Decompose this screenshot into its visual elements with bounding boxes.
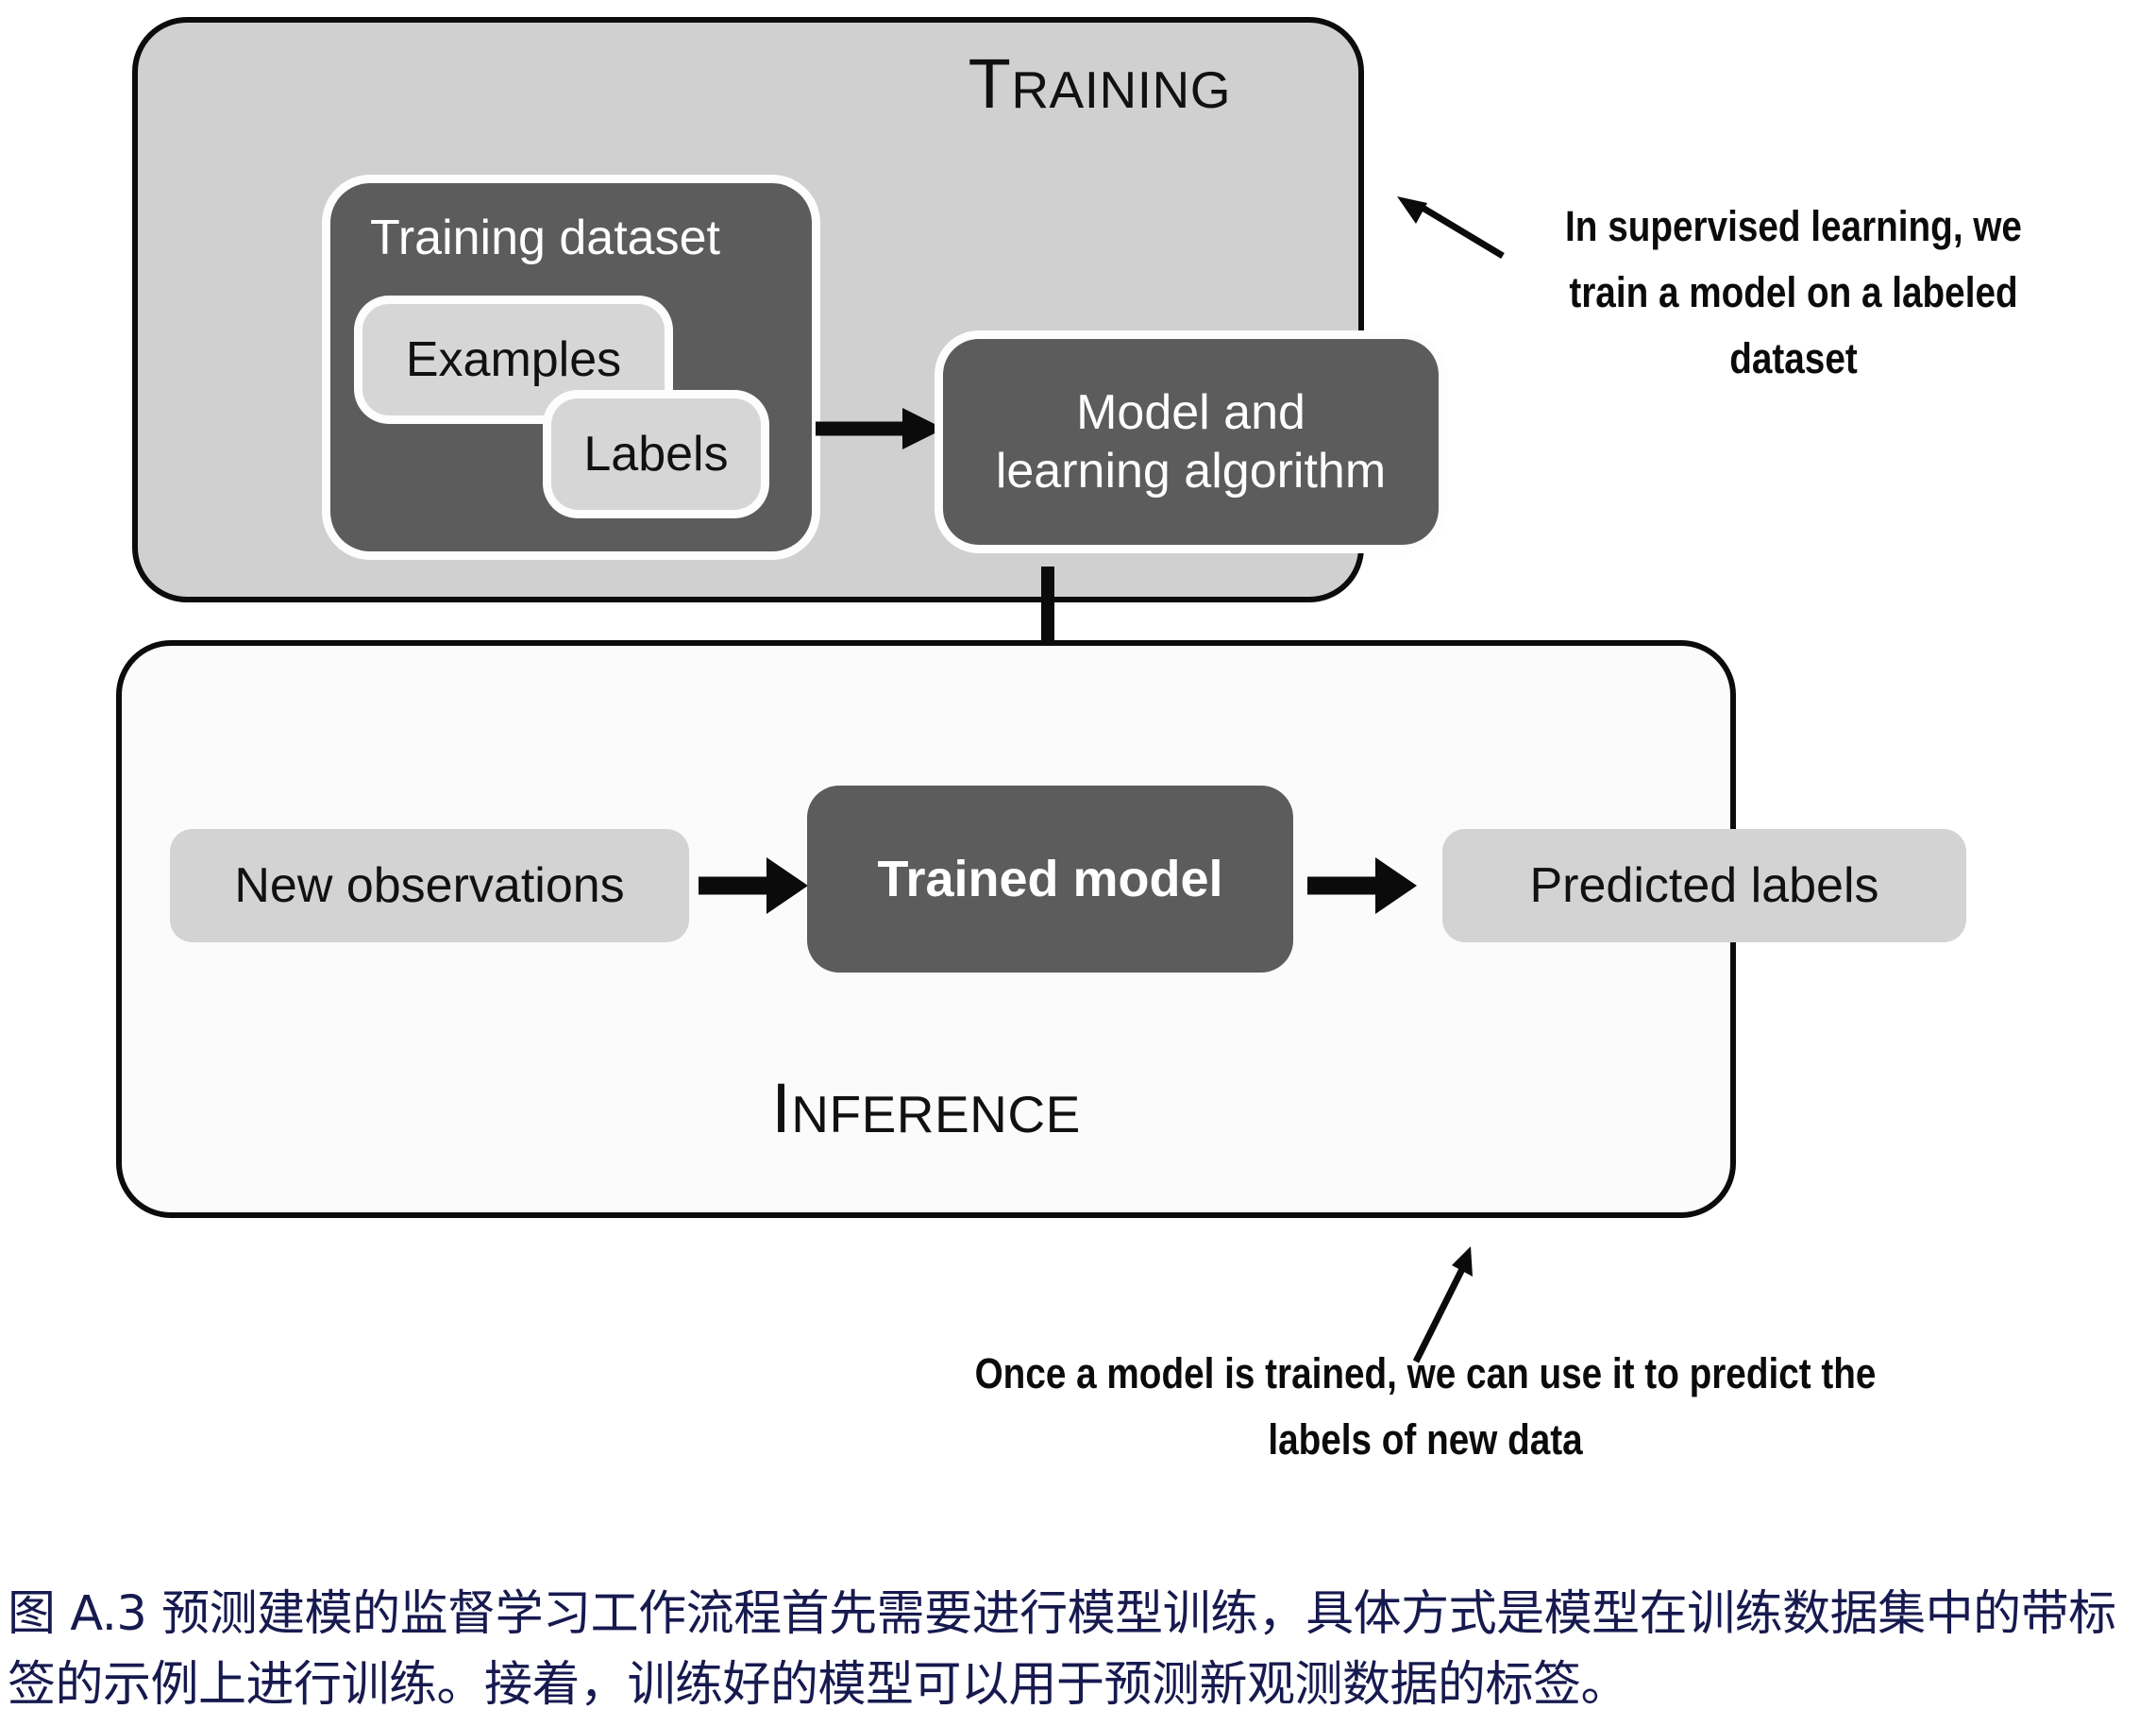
arrow-trained-model-to-predicted-labels-icon: [1307, 850, 1421, 922]
figure-supervised-learning-workflow: TRAINING Training dataset Examples Label…: [0, 0, 2156, 1726]
figure-caption: 图 A.3 预测建模的监督学习工作流程首先需要进行模型训练，具体方式是模型在训练…: [8, 1579, 2150, 1721]
training-section-title: TRAINING: [969, 51, 1231, 117]
predicted-labels-box: Predicted labels: [1442, 829, 1966, 942]
training-dataset-box: Training dataset Examples Labels: [330, 183, 812, 551]
training-dataset-label: Training dataset: [370, 210, 720, 266]
labels-chip: Labels: [551, 398, 761, 510]
trained-model-box: Trained model: [807, 786, 1293, 973]
trained-model-label: Trained model: [877, 850, 1222, 908]
training-title-initial: T: [969, 44, 1012, 123]
labels-label: Labels: [583, 426, 728, 482]
new-observations-label: New observations: [234, 857, 624, 914]
examples-label: Examples: [406, 331, 621, 388]
inference-title-initial: I: [771, 1069, 791, 1147]
training-annotation-leader-arrow-icon: [1397, 194, 1510, 279]
training-section-panel: TRAINING Training dataset Examples Label…: [132, 17, 1364, 602]
predicted-labels-label: Predicted labels: [1530, 857, 1879, 914]
inference-section-title: INFERENCE: [122, 1075, 1730, 1142]
training-title-smallcaps: RAINING: [1011, 60, 1231, 119]
inference-annotation-text: Once a model is trained, we can use it t…: [954, 1341, 1896, 1473]
arrow-dataset-to-model-icon: [816, 400, 948, 457]
new-observations-box: New observations: [170, 829, 689, 942]
training-annotation-text: In supervised learning, we train a model…: [1534, 194, 2053, 391]
model-box-line1: Model and: [1076, 385, 1305, 440]
arrow-observations-to-trained-model-icon: [699, 850, 812, 922]
inference-title-smallcaps: NFERENCE: [791, 1085, 1081, 1143]
model-box-line2: learning algorithm: [996, 444, 1386, 499]
model-and-learning-algorithm-box: Model and learning algorithm: [943, 339, 1439, 545]
